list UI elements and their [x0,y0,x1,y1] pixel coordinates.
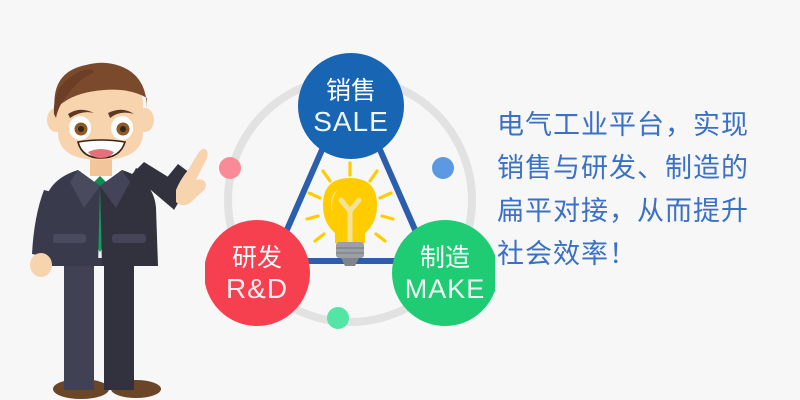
jacket-pocket-right [112,234,146,243]
node-make[interactable]: 制造 MAKE [392,220,495,326]
bulb-ray-4 [380,193,391,198]
copy-line-2: 销售与研发、制造的 [497,147,787,190]
banner-root: 销售 SALE 研发 R&D 制造 MAKE 电气工业平台，实现 销售与研发、制… [0,0,800,400]
ring-dot-right [432,157,454,179]
jacket-pocket-left [52,234,86,243]
node-make-cn: 制造 [420,243,470,272]
node-sale[interactable]: 销售 SALE [298,53,404,159]
ring-dot-bottom [327,307,349,329]
bulb-ray-5 [307,216,318,219]
businessman-svg [8,58,238,400]
trouser-left [64,248,94,390]
diagram-svg: 销售 SALE 研发 R&D 制造 MAKE [205,45,495,355]
bulb-ray-3 [309,193,320,198]
node-make-circle[interactable] [392,220,495,326]
node-make-en: MAKE [405,274,486,304]
node-rnd-cn: 研发 [232,243,282,272]
node-rnd[interactable]: 研发 R&D [205,220,310,326]
copy-line-1: 电气工业平台，实现 [497,104,787,147]
copy-line-3: 扁平对接，从而提升 [497,190,787,233]
node-sale-en: SALE [313,106,389,137]
bulb-ray-1 [323,171,330,181]
mascot-illustration [8,58,238,400]
bulb-ray-7 [315,234,324,241]
triangle-cycle-diagram: 销售 SALE 研发 R&D 制造 MAKE [205,45,495,355]
bulb-base [336,242,364,258]
ring-dot-left [219,157,241,179]
hand-left [30,253,52,277]
bulb-tip [341,258,359,266]
lightbulb-icon [307,163,393,266]
bulb-ray-6 [382,216,393,219]
headline-copy: 电气工业平台，实现 销售与研发、制造的 扁平对接，从而提升 社会效率！ [497,104,787,276]
node-rnd-en: R&D [226,273,288,304]
bulb-ray-8 [376,234,385,241]
pupil-left-core [78,126,84,132]
bulb-ray-2 [370,171,377,181]
pupil-right-core [120,126,126,132]
trouser-right [104,248,134,390]
copy-line-4: 社会效率！ [497,233,787,276]
node-sale-cn: 销售 [326,76,376,105]
